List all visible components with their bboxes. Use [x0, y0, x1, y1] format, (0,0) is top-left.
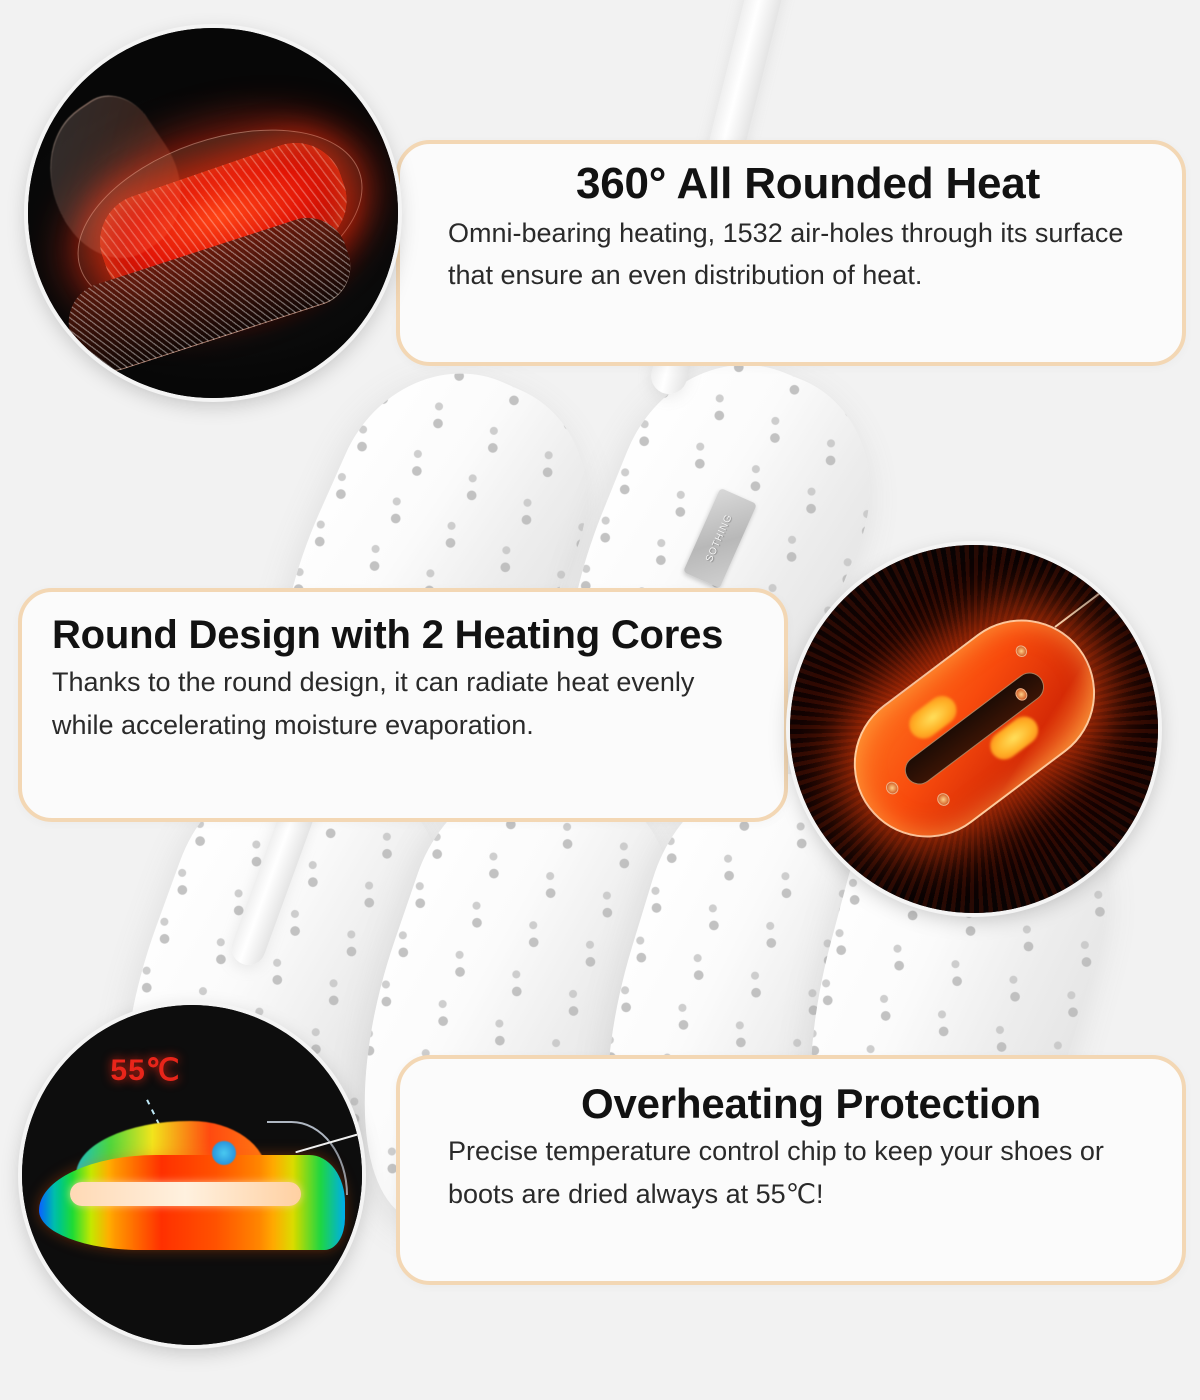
- feature-title-overheating-protection: Overheating Protection: [400, 1081, 1182, 1126]
- feature-image-glowing-insole: [28, 28, 398, 398]
- product-feature-infographic: SOTHING 360° All Rounded Heat Omni-beari…: [0, 0, 1200, 1400]
- feature-card-overheating-protection: Overheating Protection Precise temperatu…: [396, 1055, 1186, 1285]
- feature-title-round-design: Round Design with 2 Heating Cores: [52, 614, 784, 657]
- feature-image-thermal-sneaker: 55℃: [22, 1005, 362, 1345]
- feature-card-all-rounded-heat: 360° All Rounded Heat Omni-bearing heati…: [396, 140, 1186, 366]
- feature-card-round-design: Round Design with 2 Heating Cores Thanks…: [18, 588, 788, 822]
- feature-body-all-rounded-heat: Omni-bearing heating, 1532 air-holes thr…: [400, 212, 1182, 297]
- cool-spot-marker: [212, 1141, 236, 1165]
- feature-image-heating-core: [790, 545, 1158, 913]
- feature-title-all-rounded-heat: 360° All Rounded Heat: [400, 160, 1182, 208]
- feature-body-round-design: Thanks to the round design, it can radia…: [22, 661, 784, 746]
- core-screw-hole-2: [935, 791, 952, 808]
- core-screw-hole-3: [1012, 643, 1029, 660]
- temperature-readout-label: 55℃: [110, 1053, 180, 1088]
- feature-body-overheating-protection: Precise temperature control chip to keep…: [400, 1130, 1182, 1215]
- brand-label-text: SOTHING: [705, 512, 736, 563]
- core-screw-hole-1: [883, 779, 900, 796]
